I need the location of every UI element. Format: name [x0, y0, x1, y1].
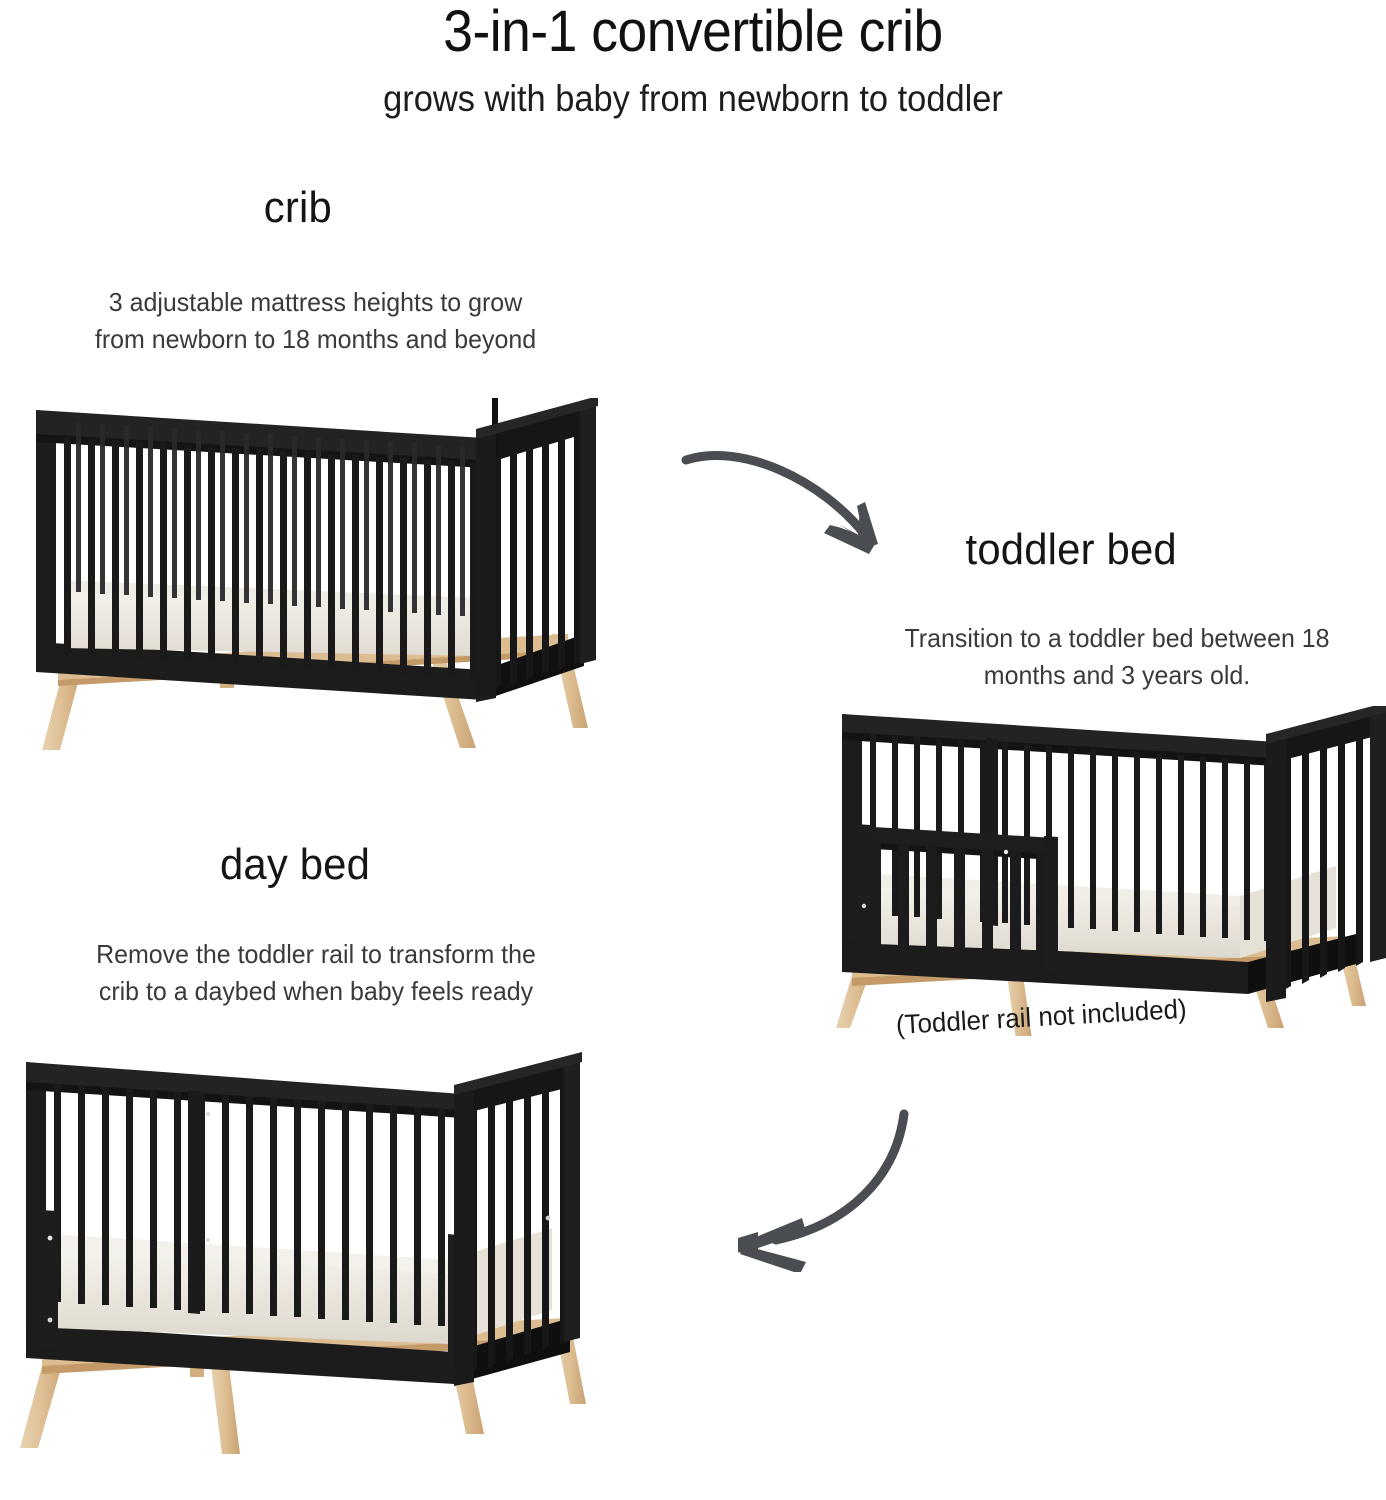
crib-illustration	[28, 398, 608, 770]
body-line: 3 adjustable mattress heights to grow	[49, 284, 582, 321]
arrow-crib-to-toddler	[672, 432, 922, 572]
infographic-page: 3-in-1 convertible crib grows with baby …	[0, 0, 1386, 1500]
page-subtitle: grows with baby from newborn to toddler	[49, 78, 1338, 121]
section-body-day-bed: Remove the toddler rail to transform the…	[53, 936, 579, 1010]
body-line: crib to a daybed when baby feels ready	[53, 973, 579, 1010]
section-heading-day-bed: day bed	[220, 843, 370, 887]
body-line: months and 3 years old.	[882, 657, 1352, 694]
section-body-toddler-bed: Transition to a toddler bed between 18 m…	[882, 620, 1352, 694]
page-title: 3-in-1 convertible crib	[55, 2, 1330, 63]
section-body-crib: 3 adjustable mattress heights to grow fr…	[49, 284, 582, 358]
section-heading-toddler-bed: toddler bed	[966, 528, 1177, 572]
section-heading-crib: crib	[264, 186, 332, 230]
body-line: Remove the toddler rail to transform the	[53, 936, 579, 973]
day-bed-illustration	[18, 1052, 618, 1464]
toddler-bed-illustration	[836, 706, 1386, 1036]
body-line: from newborn to 18 months and beyond	[49, 321, 582, 358]
body-line: Transition to a toddler bed between 18	[882, 620, 1352, 657]
arrow-toddler-to-daybed	[710, 1092, 940, 1272]
